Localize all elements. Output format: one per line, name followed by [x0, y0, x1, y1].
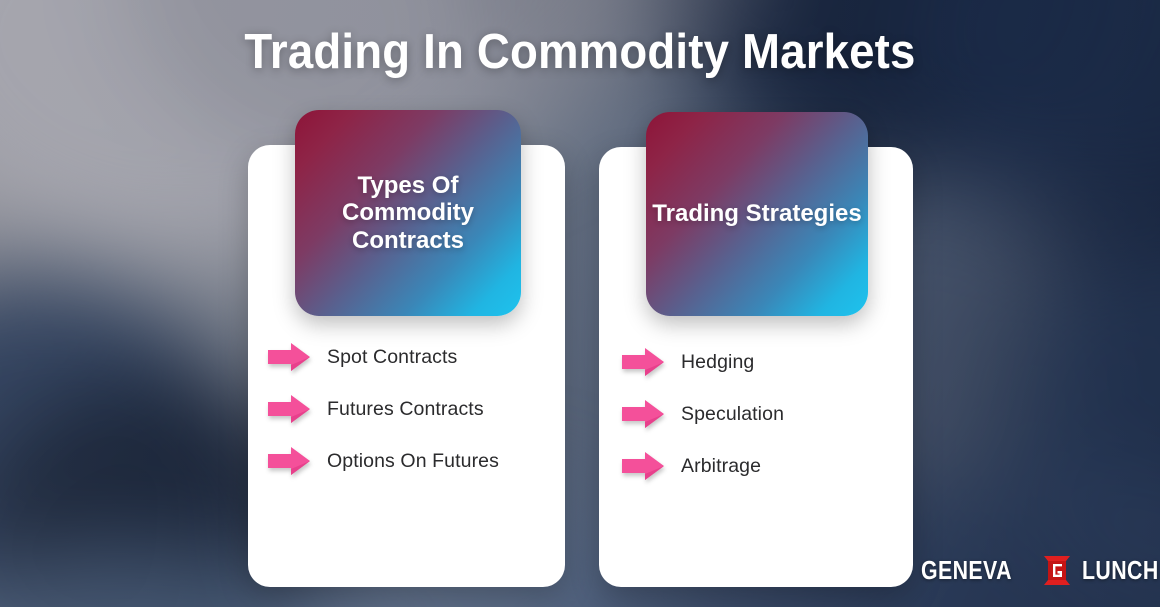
list-item[interactable]: Futures Contracts: [266, 393, 499, 425]
list-item-label: Spot Contracts: [327, 346, 457, 369]
card-1-heading-panel: Types Of Commodity Contracts: [295, 110, 521, 316]
list-item[interactable]: Spot Contracts: [266, 341, 499, 373]
arrow-right-icon: [620, 398, 666, 430]
list-item-label: Hedging: [681, 351, 754, 374]
logo-word-geneva: GENEVA: [921, 557, 1012, 583]
logo-word-lunch: LUNCH: [1082, 557, 1159, 583]
list-item-label: Speculation: [681, 403, 784, 426]
list-item[interactable]: Arbitrage: [620, 450, 784, 482]
list-item-label: Arbitrage: [681, 455, 761, 478]
brand-logo[interactable]: GENEVA LUNCH: [921, 552, 1160, 588]
list-item-label: Options On Futures: [327, 450, 499, 473]
list-item[interactable]: Hedging: [620, 346, 784, 378]
card-1-list: Spot Contracts Futures Contracts Options…: [266, 341, 499, 497]
card-1-heading: Types Of Commodity Contracts: [318, 172, 498, 255]
arrow-right-icon: [620, 450, 666, 482]
list-item[interactable]: Speculation: [620, 398, 784, 430]
geneva-lunch-g-emblem-icon: [1041, 554, 1073, 587]
infographic-canvas: Trading In Commodity Markets Types Of Co…: [0, 0, 1160, 607]
list-item[interactable]: Options On Futures: [266, 445, 499, 477]
card-2-heading-panel: Trading Strategies: [646, 112, 868, 316]
list-item-label: Futures Contracts: [327, 398, 484, 421]
page-title: Trading In Commodity Markets: [41, 24, 1120, 80]
arrow-right-icon: [266, 445, 312, 477]
arrow-right-icon: [620, 346, 666, 378]
arrow-right-icon: [266, 341, 312, 373]
background-overlay: [0, 0, 1160, 607]
arrow-right-icon: [266, 393, 312, 425]
card-2-list: Hedging Speculation Arbitrage: [620, 346, 784, 502]
card-2-heading: Trading Strategies: [646, 200, 868, 228]
